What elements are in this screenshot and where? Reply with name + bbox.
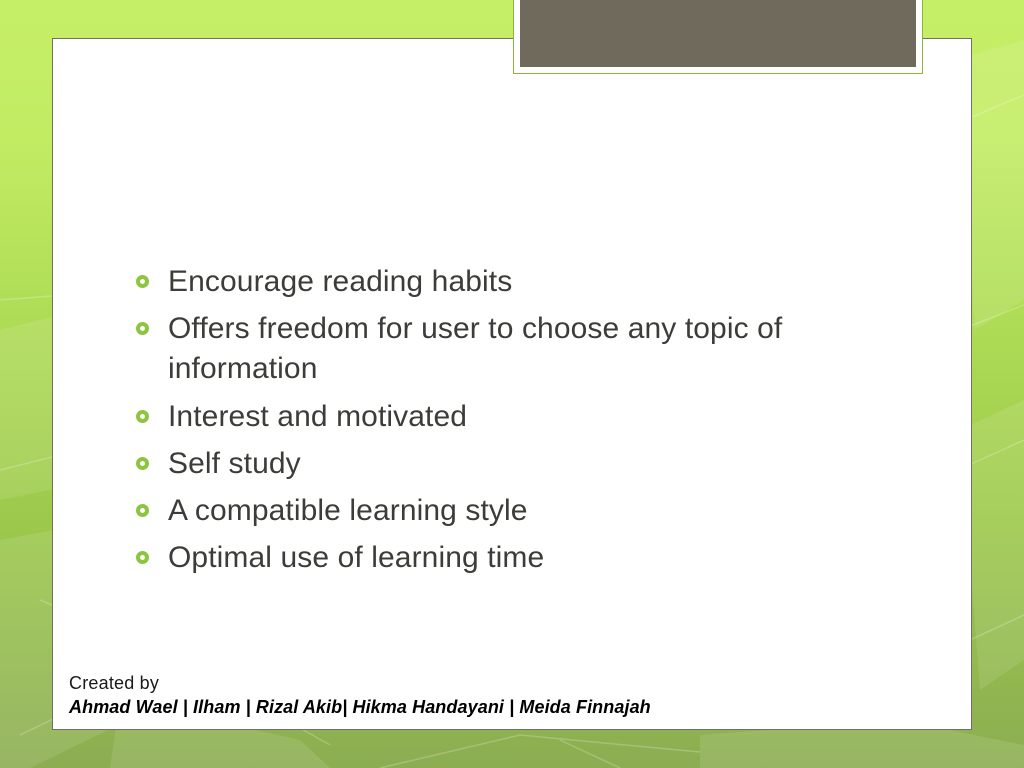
ring-bullet-icon [136,322,149,335]
ring-bullet-icon [136,504,149,517]
top-decorative-rectangle-fill [520,0,916,67]
credits-label: Created by [69,672,651,695]
credits-block: Created by Ahmad Wael | Ilham | Rizal Ak… [69,672,651,719]
list-item: Optimal use of learning time [132,538,872,578]
list-item: Interest and motivated [132,397,872,437]
credits-names: Ahmad Wael | Ilham | Rizal Akib| Hikma H… [69,696,651,719]
list-item: A compatible learning style [132,491,872,531]
list-item: Offers freedom for user to choose any to… [132,309,872,389]
list-item: Encourage reading habits [132,262,872,302]
bullet-list: Encourage reading habits Offers freedom … [132,262,872,585]
list-item-label: Encourage reading habits [168,262,872,302]
ring-bullet-icon [136,551,149,564]
ring-bullet-icon [136,410,149,423]
ring-bullet-icon [136,275,149,288]
list-item-label: Interest and motivated [168,397,872,437]
presentation-slide: Encourage reading habits Offers freedom … [0,0,1024,768]
list-item-label: Self study [168,444,872,484]
list-item-label: A compatible learning style [168,491,872,531]
list-item-label: Offers freedom for user to choose any to… [168,309,872,389]
top-decorative-rectangle [513,0,923,74]
list-item: Self study [132,444,872,484]
ring-bullet-icon [136,457,149,470]
list-item-label: Optimal use of learning time [168,538,872,578]
